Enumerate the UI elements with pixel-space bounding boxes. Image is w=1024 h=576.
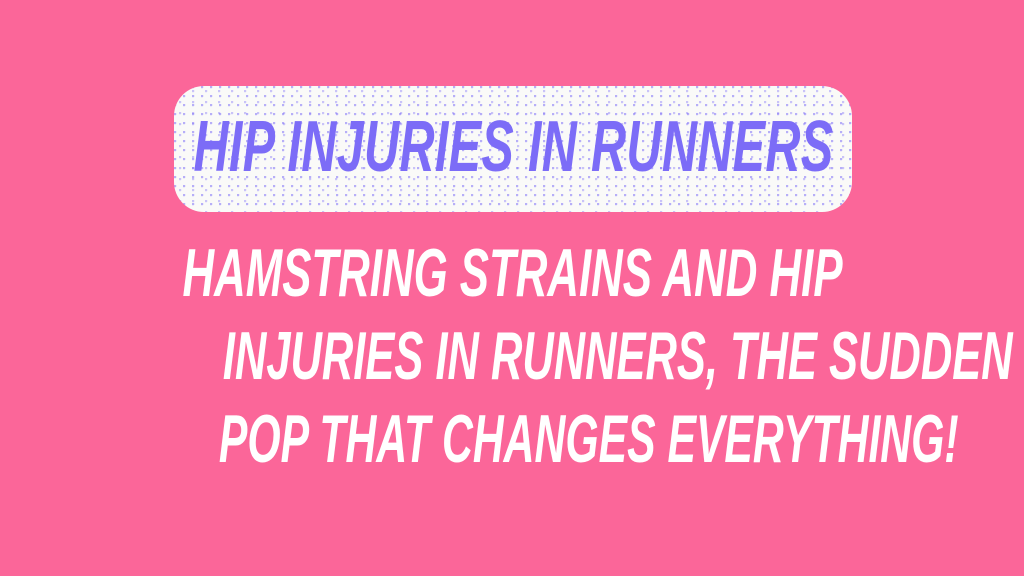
badge-title-text: HIP INJURIES IN RUNNERS	[193, 111, 833, 183]
slide-canvas: HIP INJURIES IN RUNNERS HAMSTRING STRAIN…	[0, 0, 1024, 576]
headline-line-3: POP THAT CHANGES EVERYTHING!	[219, 398, 959, 481]
headline-line-1: HAMSTRING STRAINS AND HIP	[183, 232, 843, 315]
title-badge: HIP INJURIES IN RUNNERS	[174, 86, 852, 212]
headline-line-2: INJURIES IN RUNNERS, THE SUDDEN	[223, 315, 1013, 398]
headline-block: HAMSTRING STRAINS AND HIP INJURIES IN RU…	[0, 232, 1024, 481]
